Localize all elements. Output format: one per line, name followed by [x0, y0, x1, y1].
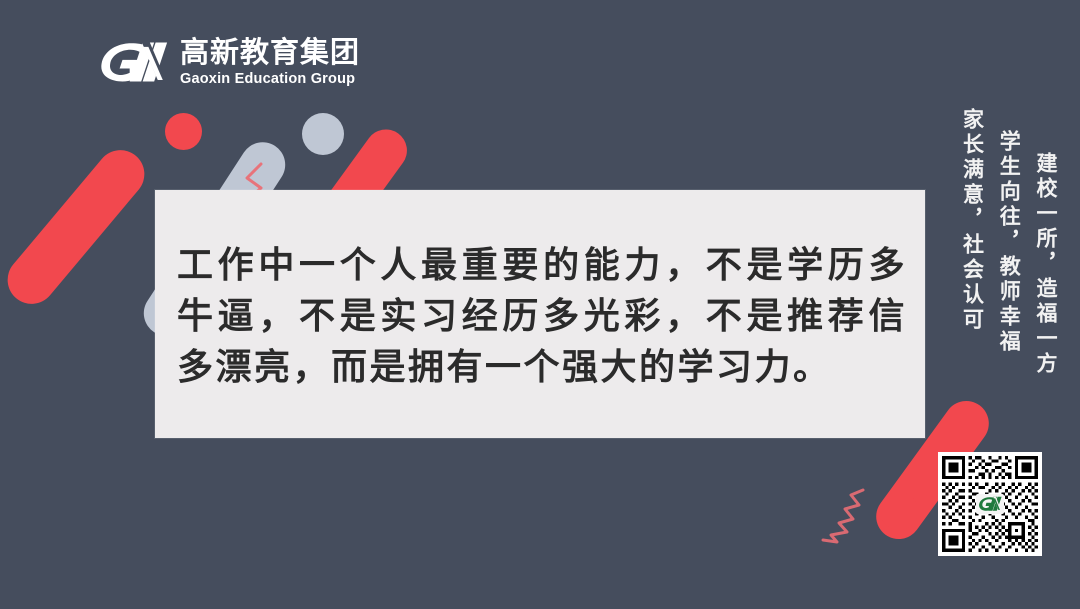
- decor-dot-red-top: [165, 113, 202, 150]
- brand-logo: 高新教育集团 Gaoxin Education Group: [98, 38, 360, 87]
- brand-name-cn: 高新教育集团: [180, 38, 360, 67]
- brand-name-en: Gaoxin Education Group: [180, 72, 360, 87]
- slogan-column-2: 学生向往，教师幸福: [996, 130, 1021, 355]
- slogan-block: 家长满意，社会认可 学生向往，教师幸福 建校一所，造福一方: [960, 108, 1058, 377]
- poster-canvas: 高新教育集团 Gaoxin Education Group 工作中一个人最重要的…: [0, 0, 1080, 609]
- gx-monogram-icon: [98, 39, 170, 85]
- qr-center-logo: [976, 494, 1004, 514]
- decor-dot-red-bottom-right: [880, 492, 918, 530]
- squiggle-bottom-right-icon: [795, 487, 867, 545]
- brand-text: 高新教育集团 Gaoxin Education Group: [180, 38, 360, 87]
- slogan-column-3: 建校一所，造福一方: [1033, 152, 1058, 377]
- gx-monogram-icon: [978, 496, 1002, 512]
- decor-bar-red-left: [0, 140, 154, 313]
- quote-text: 工作中一个人最重要的能力，不是学历多牛逼，不是实习经历多光彩，不是推荐信多漂亮，…: [177, 240, 907, 393]
- qr-code[interactable]: [938, 452, 1042, 556]
- decor-dot-steel-top: [302, 113, 344, 155]
- slogan-column-1: 家长满意，社会认可: [960, 108, 985, 333]
- quote-card: 工作中一个人最重要的能力，不是学历多牛逼，不是实习经历多光彩，不是推荐信多漂亮，…: [155, 190, 925, 438]
